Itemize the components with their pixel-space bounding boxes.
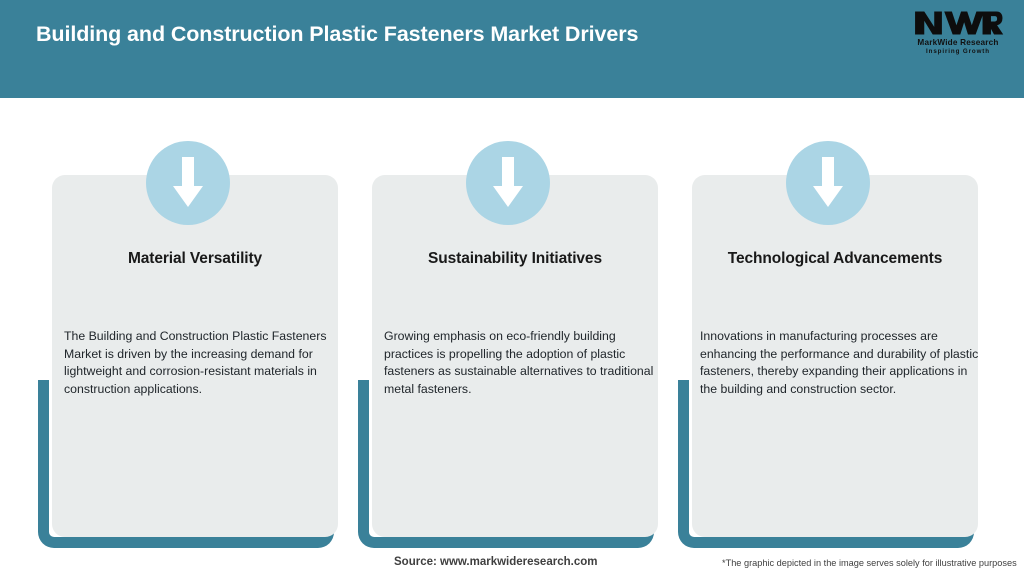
card-title: Technological Advancements	[692, 250, 978, 268]
arrow-down-icon	[466, 141, 550, 225]
card-title: Sustainability Initiatives	[372, 250, 658, 268]
page-header: Building and Construction Plastic Fasten…	[0, 0, 1024, 98]
brand-logo: MarkWide Research Inspiring Growth	[906, 8, 1010, 62]
card-body-text: Growing emphasis on eco-friendly buildin…	[384, 328, 654, 398]
source-label: Source: www.markwideresearch.com	[394, 556, 597, 568]
driver-card-1[interactable]: Material Versatility The Building and Co…	[38, 98, 338, 538]
mwr-logo-icon	[912, 8, 1004, 38]
driver-card-3[interactable]: Technological Advancements Innovations i…	[678, 98, 978, 538]
card-body-text: The Building and Construction Plastic Fa…	[64, 328, 334, 398]
arrow-down-icon	[786, 141, 870, 225]
logo-tagline: Inspiring Growth	[906, 48, 1010, 56]
page-title: Building and Construction Plastic Fasten…	[36, 22, 638, 47]
logo-company-name: MarkWide Research	[906, 38, 1010, 48]
card-title: Material Versatility	[52, 250, 338, 268]
card-body-text: Innovations in manufacturing processes a…	[700, 328, 982, 398]
driver-cards-container: Material Versatility The Building and Co…	[0, 98, 1024, 538]
arrow-down-icon	[146, 141, 230, 225]
driver-card-2[interactable]: Sustainability Initiatives Growing empha…	[358, 98, 658, 538]
disclaimer-label: *The graphic depicted in the image serve…	[722, 558, 1017, 568]
